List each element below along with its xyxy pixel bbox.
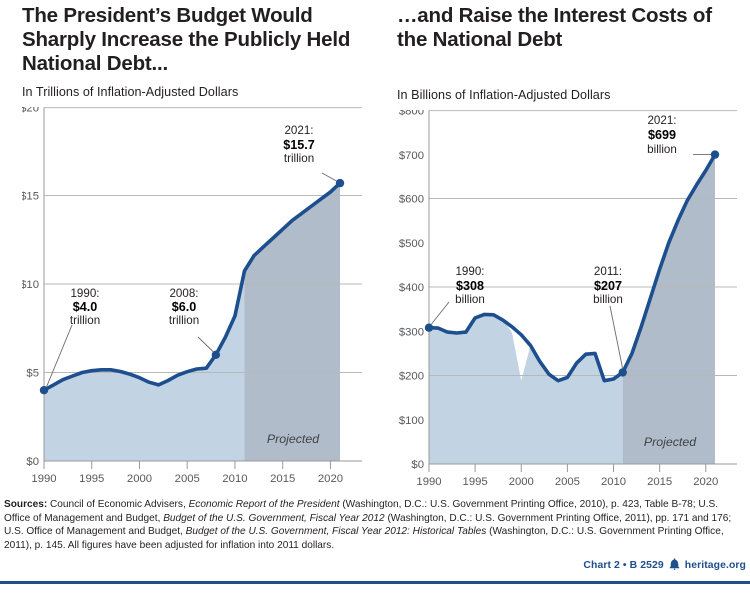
- right-area-projected: [623, 154, 715, 463]
- right-leader-1990: [432, 302, 450, 324]
- left-leader-2008: [198, 337, 214, 352]
- left-plot-area: $20 $15 $10 $5 $0 1990 1995 2000 2005 20…: [22, 107, 372, 487]
- left-xtick-2020: 2020: [318, 473, 343, 485]
- left-area-projected: [245, 183, 340, 461]
- right-xtick-2005: 2005: [555, 476, 580, 488]
- right-chart-title: …and Raise the Interest Costs of the Nat…: [397, 4, 750, 52]
- right-area-actual: [429, 314, 623, 464]
- right-xtick-2015: 2015: [647, 476, 672, 488]
- sources-note: Sources: Council of Economic Advisers, E…: [4, 498, 746, 553]
- left-chart-svg: $20 $15 $10 $5 $0 1990 1995 2000 2005 20…: [22, 107, 372, 487]
- right-ytick-400: $400: [399, 282, 424, 294]
- sources-text-1: Council of Economic Advisers,: [47, 499, 188, 510]
- right-ytick-800: $800: [399, 110, 424, 118]
- sources-italic-2: Budget of the U.S. Government, Fiscal Ye…: [163, 513, 384, 524]
- right-ytick-0: $0: [411, 459, 424, 471]
- right-ann-2011-value: $207: [594, 279, 622, 293]
- right-xtick-2000: 2000: [509, 476, 534, 488]
- left-ann-2008-unit: trillion: [169, 314, 199, 327]
- left-ann-1990-unit: trillion: [70, 314, 100, 327]
- left-ytick-20: $20: [22, 107, 39, 115]
- chart-number-label: Chart 2 • B 2529: [583, 560, 663, 571]
- panel-interest-costs: …and Raise the Interest Costs of the Nat…: [375, 0, 750, 490]
- right-ann-1990-unit: billion: [455, 293, 485, 306]
- left-chart-subtitle: In Trillions of Inflation-Adjusted Dolla…: [22, 85, 375, 99]
- left-xtick-2010: 2010: [222, 473, 247, 485]
- left-annotation-1990: 1990: $4.0 trillion: [70, 287, 100, 327]
- right-ytick-200: $200: [399, 370, 424, 382]
- left-ann-2021-year: 2021:: [284, 124, 313, 137]
- left-ytick-0: $0: [26, 456, 39, 468]
- right-marker-2021: [711, 150, 719, 158]
- left-ytick-10: $10: [22, 279, 39, 291]
- right-annotation-2011: 2011: $207 billion: [593, 265, 623, 306]
- right-x-ticks: [429, 464, 706, 472]
- left-xtick-1990: 1990: [31, 473, 56, 485]
- right-xtick-2010: 2010: [601, 476, 626, 488]
- right-ann-2011-unit: billion: [593, 293, 623, 306]
- sources-italic-1: Economic Report of the President: [189, 499, 340, 510]
- right-projected-label: Projected: [644, 435, 697, 449]
- right-ann-1990-value: $308: [456, 279, 484, 293]
- right-ytick-100: $100: [399, 414, 424, 426]
- left-leader-2021: [322, 173, 337, 181]
- right-ytick-600: $600: [399, 193, 424, 205]
- left-marker-1990: [40, 386, 48, 394]
- footer-meta: Chart 2 • B 2529 heritage.org: [583, 558, 746, 573]
- left-xtick-2005: 2005: [175, 473, 200, 485]
- left-projected-label: Projected: [267, 432, 320, 446]
- left-ann-1990-year: 1990:: [70, 287, 99, 300]
- right-ytick-300: $300: [399, 326, 424, 338]
- right-chart-subtitle: In Billions of Inflation-Adjusted Dollar…: [397, 88, 750, 102]
- right-marker-1990: [425, 323, 433, 331]
- right-xtick-2020: 2020: [693, 476, 718, 488]
- right-ann-2021-value: $699: [648, 128, 676, 142]
- right-ann-2021-unit: billion: [647, 143, 677, 156]
- sources-label: Sources:: [4, 499, 47, 510]
- right-chart-svg: $800 $700 $600 $500 $400 $300 $200 $100 …: [397, 110, 747, 490]
- left-ann-2021-value: $15.7: [283, 138, 315, 152]
- right-ann-2011-year: 2011:: [594, 265, 622, 278]
- left-ann-2008-year: 2008:: [169, 287, 198, 300]
- left-annotation-2021: 2021: $15.7 trillion: [283, 124, 315, 165]
- right-ytick-700: $700: [399, 149, 424, 161]
- right-marker-2011: [619, 368, 627, 376]
- right-plot-area: $800 $700 $600 $500 $400 $300 $200 $100 …: [397, 110, 747, 490]
- right-xtick-1990: 1990: [416, 476, 441, 488]
- liberty-bell-icon: [669, 558, 680, 573]
- charts-container: The President’s Budget Would Sharply Inc…: [0, 0, 750, 490]
- left-annotation-2008: 2008: $6.0 trillion: [169, 287, 199, 327]
- right-xtick-1995: 1995: [463, 476, 488, 488]
- footer-rule: [0, 581, 750, 584]
- right-leader-2011: [610, 306, 623, 369]
- right-ytick-500: $500: [399, 237, 424, 249]
- left-ann-1990-value: $4.0: [73, 300, 98, 314]
- left-chart-title: The President’s Budget Would Sharply Inc…: [22, 4, 375, 75]
- right-ann-1990-year: 1990:: [455, 265, 484, 278]
- right-annotation-1990: 1990: $308 billion: [455, 265, 485, 306]
- left-ann-2021-unit: trillion: [284, 152, 314, 165]
- left-ytick-15: $15: [22, 191, 39, 203]
- left-xtick-2000: 2000: [127, 473, 152, 485]
- left-xtick-1995: 1995: [79, 473, 104, 485]
- left-x-ticks: [44, 461, 330, 469]
- left-ann-2008-value: $6.0: [172, 300, 197, 314]
- left-xtick-2015: 2015: [270, 473, 295, 485]
- panel-publicly-held-debt: The President’s Budget Would Sharply Inc…: [0, 0, 375, 490]
- left-marker-2021: [336, 179, 344, 187]
- right-annotation-2021: 2021: $699 billion: [647, 114, 677, 156]
- sources-italic-3: Budget of the U.S. Government, Fiscal Ye…: [186, 526, 487, 537]
- left-ytick-5: $5: [26, 368, 39, 380]
- heritage-site-label: heritage.org: [685, 560, 746, 571]
- right-ann-2021-year: 2021:: [647, 114, 676, 127]
